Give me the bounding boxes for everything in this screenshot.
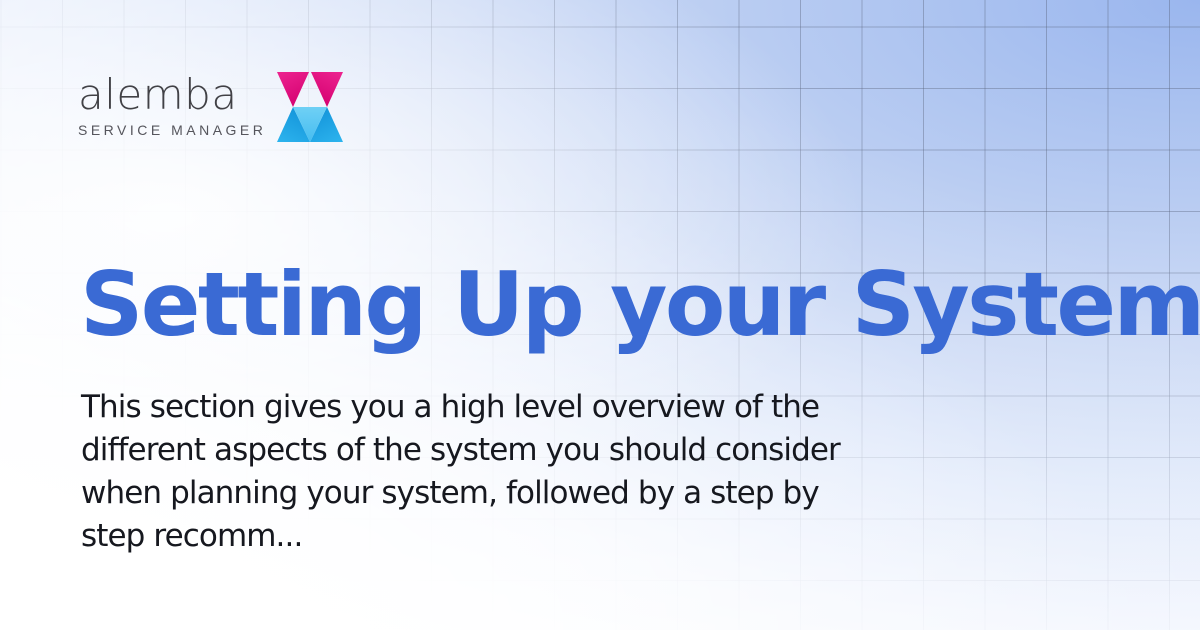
logo-word-alemba: alemba [78, 74, 266, 116]
alemba-service-manager-logo: alemba SERVICE MANAGER [78, 72, 344, 146]
logo-tagline: SERVICE MANAGER [78, 123, 266, 137]
logo-triangle-pink-right [311, 72, 343, 107]
alemba-x-logo-mark-icon [276, 68, 344, 146]
logo-wordmark: alemba SERVICE MANAGER [78, 72, 266, 137]
card-content: alemba SERVICE MANAGER [0, 0, 1200, 630]
page-description: This section gives you a high level over… [81, 386, 881, 558]
page-title: Setting Up your System [80, 259, 1200, 351]
logo-triangle-pink-left [277, 72, 309, 107]
social-share-card: alemba SERVICE MANAGER [0, 0, 1200, 630]
